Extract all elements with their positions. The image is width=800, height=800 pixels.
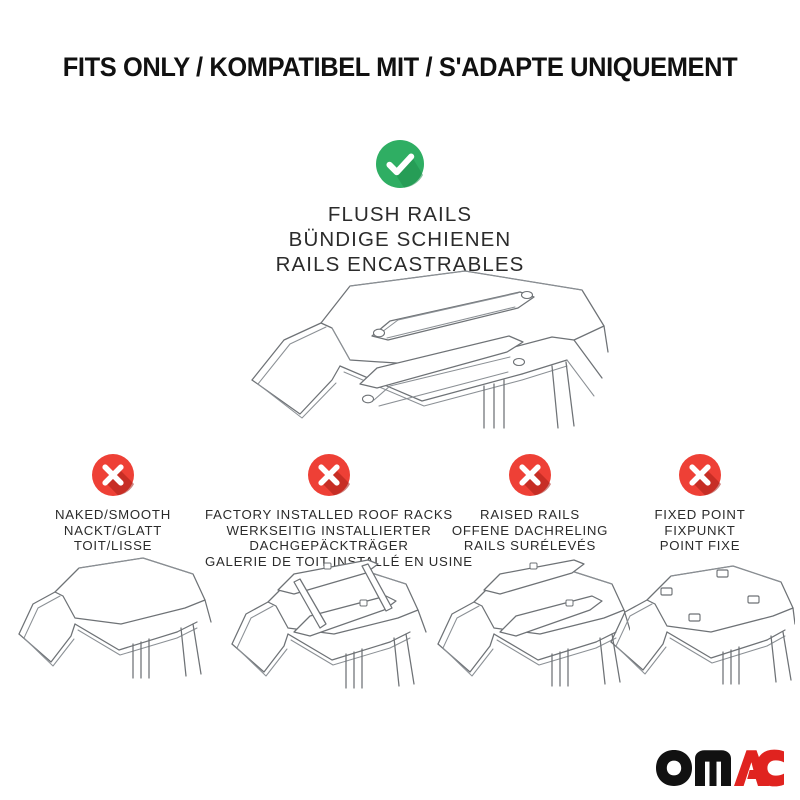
car-roof-naked-smooth-illustration [13, 552, 213, 687]
red-x-circle-icon [306, 452, 352, 498]
compatible-section: FLUSH RAILS BÜNDIGE SCHIENEN RAILS ENCAS… [0, 138, 800, 277]
incompatible-labels: FIXED POINT FIXPUNKT POINT FIXE [615, 507, 785, 554]
compatible-label-en: FLUSH RAILS [0, 202, 800, 227]
green-check-circle-icon [374, 138, 426, 190]
omac-logo [655, 748, 785, 788]
incompatible-labels: RAISED RAILS OFFENE DACHRELING RAILS SUR… [437, 507, 623, 554]
incompatible-item-naked-smooth: NAKED/SMOOTH NACKT/GLATT TOIT/LISSE [13, 452, 213, 554]
incompatible-item-fixed-point: FIXED POINT FIXPUNKT POINT FIXE [615, 452, 785, 554]
page-title: FITS ONLY / KOMPATIBEL MIT / S'ADAPTE UN… [16, 52, 784, 83]
red-x-circle-icon [677, 452, 723, 498]
incompatible-label-de-1: WERKSEITIG INSTALLIERTER [205, 523, 453, 539]
incompatible-label-en: RAISED RAILS [437, 507, 623, 523]
car-roof-raised-rails-illustration [430, 552, 630, 690]
incompatible-label-de: FIXPUNKT [615, 523, 785, 539]
car-roof-flush-rails-illustration [222, 268, 612, 443]
red-x-circle-icon [90, 452, 136, 498]
incompatible-label-de: OFFENE DACHRELING [437, 523, 623, 539]
incompatible-labels: NAKED/SMOOTH NACKT/GLATT TOIT/LISSE [13, 507, 213, 554]
incompatible-item-raised-rails: RAISED RAILS OFFENE DACHRELING RAILS SUR… [437, 452, 623, 554]
compatible-labels: FLUSH RAILS BÜNDIGE SCHIENEN RAILS ENCAS… [0, 202, 800, 277]
car-roof-factory-racks-illustration [220, 552, 438, 692]
incompatible-label-de: NACKT/GLATT [13, 523, 213, 539]
car-roof-fixed-point-illustration [605, 552, 795, 688]
compatible-label-de: BÜNDIGE SCHIENEN [0, 227, 800, 252]
incompatible-label-en: FACTORY INSTALLED ROOF RACKS [205, 507, 453, 523]
red-x-circle-icon [507, 452, 553, 498]
incompatible-label-en: NAKED/SMOOTH [13, 507, 213, 523]
incompatible-item-factory-roof-racks: FACTORY INSTALLED ROOF RACKS WERKSEITIG … [205, 452, 453, 569]
incompatible-label-en: FIXED POINT [615, 507, 785, 523]
